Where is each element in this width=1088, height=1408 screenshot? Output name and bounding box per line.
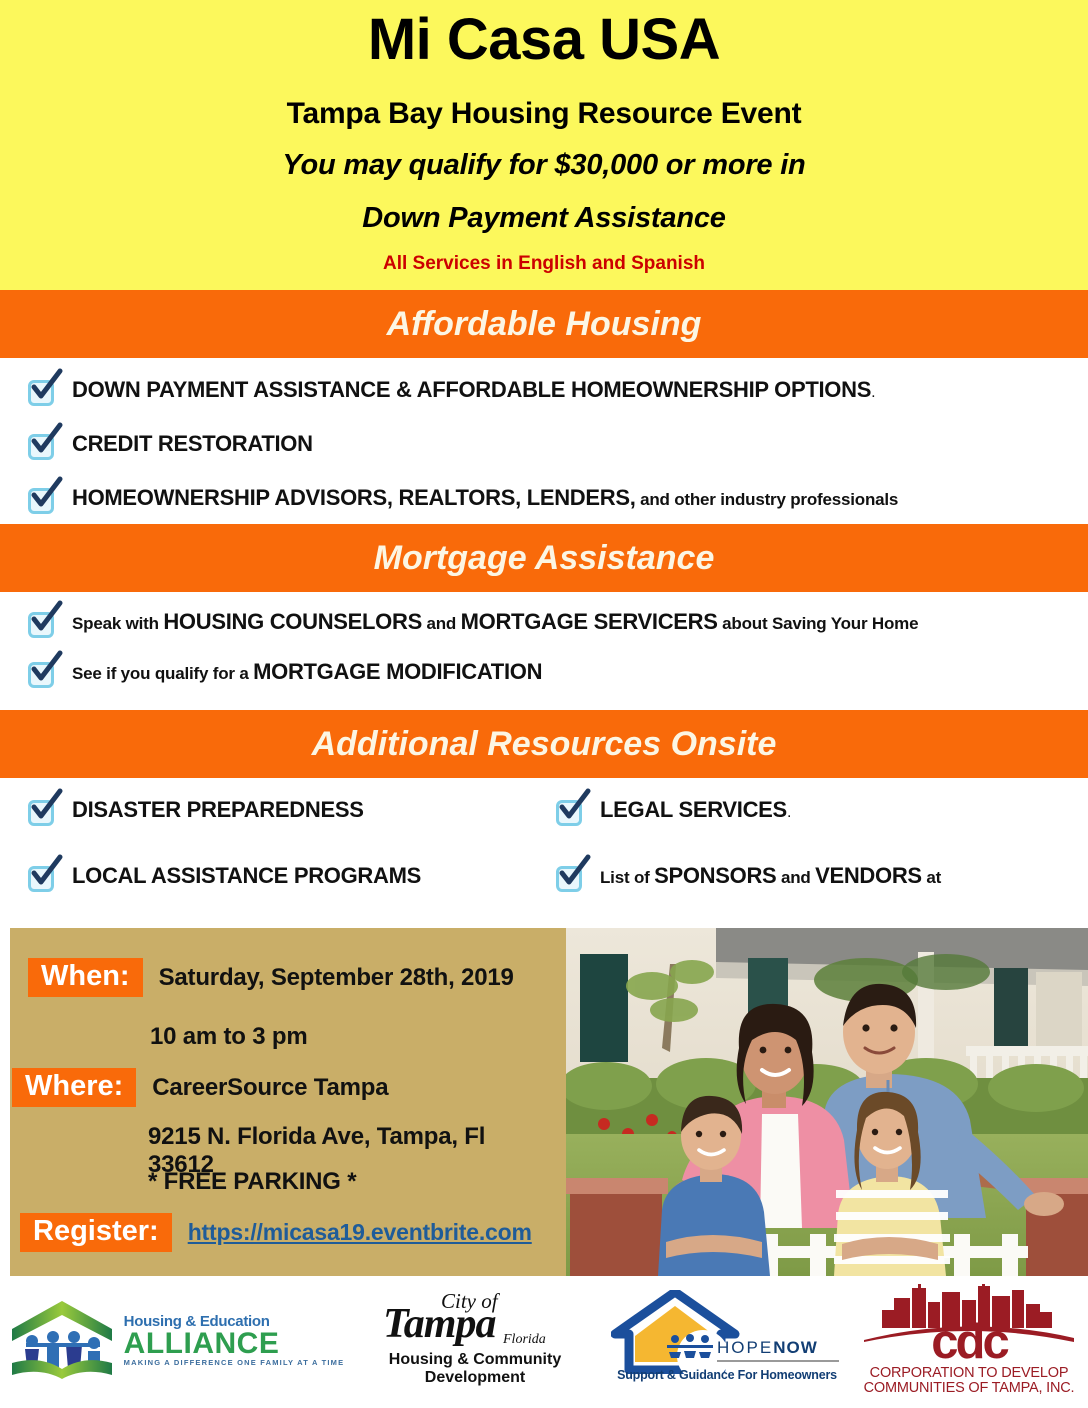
list-item-label: LOCAL ASSISTANCE PROGRAMS — [72, 860, 421, 887]
tampa-dept-line2: Development — [389, 1369, 561, 1387]
parking-value: * FREE PARKING * — [148, 1168, 356, 1196]
checkbox-checked-icon — [28, 862, 58, 892]
section-body-additional-resources: DISASTER PREPAREDNESS LOCAL ASSISTANCE P… — [0, 778, 1088, 892]
when-label: When: — [28, 958, 143, 997]
checkbox-checked-icon — [28, 430, 58, 460]
flyer-page: Mi Casa USA Tampa Bay Housing Resource E… — [0, 0, 1088, 1408]
time-value: 10 am to 3 pm — [150, 1023, 307, 1051]
list-item: DOWN PAYMENT ASSISTANCE & AFFORDABLE HOM… — [0, 374, 1088, 406]
alliance-line2: ALLIANCE — [124, 1329, 345, 1359]
section-body-affordable-housing: DOWN PAYMENT ASSISTANCE & AFFORDABLE HOM… — [0, 358, 1088, 524]
list-item: CREDIT RESTORATION — [0, 428, 1088, 460]
list-item-label: See if you qualify for a MORTGAGE MODIFI… — [72, 656, 542, 683]
list-item-label: CREDIT RESTORATION — [72, 428, 313, 455]
list-item: DISASTER PREPAREDNESS — [0, 794, 544, 826]
list-item: LEGAL SERVICES. — [544, 794, 1088, 826]
hope-tagline: Support & Guidance For Homeowners — [607, 1368, 847, 1382]
list-item: See if you qualify for a MORTGAGE MODIFI… — [0, 656, 1088, 688]
where-value: CareerSource Tampa — [152, 1074, 388, 1102]
register-label: Register: — [20, 1213, 172, 1252]
list-item-label: Speak with HOUSING COUNSELORS and MORTGA… — [72, 606, 918, 633]
languages-note: All Services in English and Spanish — [0, 235, 1088, 275]
event-register-row: Register: https://micasa19.eventbrite.co… — [20, 1213, 532, 1252]
hope-people-icon — [667, 1334, 713, 1363]
section-heading: Mortgage Assistance — [374, 539, 715, 578]
hope-now-wordmark: HOPENOW — [717, 1338, 818, 1358]
checkbox-checked-icon — [28, 608, 58, 638]
event-when-row: When: Saturday, September 28th, 2019 — [28, 958, 514, 997]
logo-cdc-tampa: cdc CORPORATION TO DEVELOP COMMUNITIES O… — [850, 1285, 1088, 1395]
logo-city-of-tampa: City of Tampa Florida Housing & Communit… — [350, 1285, 600, 1395]
cdc-line1: CORPORATION TO DEVELOP — [854, 1366, 1084, 1381]
family-photo — [566, 928, 1088, 1276]
checkbox-checked-icon — [556, 862, 586, 892]
event-subtitle: Tampa Bay Housing Resource Event — [0, 71, 1088, 131]
checkbox-checked-icon — [28, 376, 58, 406]
event-parking-row: * FREE PARKING * — [148, 1168, 356, 1196]
tampa-name-text: Tampa — [383, 1303, 495, 1345]
header-banner: Mi Casa USA Tampa Bay Housing Resource E… — [0, 0, 1088, 290]
register-link[interactable]: https://micasa19.eventbrite.com — [188, 1219, 532, 1246]
event-where-row: Where: CareerSource Tampa — [12, 1068, 388, 1107]
list-item-label: List of SPONSORS and VENDORS at — [600, 860, 941, 887]
list-item-label: LEGAL SERVICES. — [600, 794, 791, 822]
list-item: LOCAL ASSISTANCE PROGRAMS — [0, 860, 544, 892]
logo-housing-education-alliance: Housing & Education ALLIANCE MAKING A DI… — [0, 1285, 350, 1395]
list-item-label: HOMEOWNERSHIP ADVISORS, REALTORS, LENDER… — [72, 482, 898, 509]
when-value: Saturday, September 28th, 2019 — [159, 964, 514, 992]
qualify-line-2: Down Payment Assistance — [0, 182, 1088, 235]
resources-column-left: DISASTER PREPAREDNESS LOCAL ASSISTANCE P… — [0, 794, 544, 892]
event-details-band: When: Saturday, September 28th, 2019 10 … — [0, 928, 1088, 1276]
section-bar-affordable-housing: Affordable Housing — [0, 290, 1088, 358]
list-item: HOMEOWNERSHIP ADVISORS, REALTORS, LENDER… — [0, 482, 1088, 514]
where-label: Where: — [12, 1068, 136, 1107]
hope-divider — [717, 1360, 839, 1362]
checkbox-checked-icon — [28, 796, 58, 826]
list-item-label: DOWN PAYMENT ASSISTANCE & AFFORDABLE HOM… — [72, 374, 875, 402]
list-item: List of SPONSORS and VENDORS at — [544, 860, 1088, 892]
qualify-line-1: You may qualify for $30,000 or more in — [0, 131, 1088, 182]
section-body-mortgage-assistance: Speak with HOUSING COUNSELORS and MORTGA… — [0, 592, 1088, 696]
cdc-wordmark: cdc — [854, 1318, 1084, 1367]
checkbox-checked-icon — [28, 484, 58, 514]
list-item-label: DISASTER PREPAREDNESS — [72, 794, 364, 821]
section-heading: Affordable Housing — [387, 305, 702, 344]
alliance-tagline: MAKING A DIFFERENCE ONE FAMILY AT A TIME — [124, 1359, 345, 1367]
list-item: Speak with HOUSING COUNSELORS and MORTGA… — [0, 606, 1088, 638]
cdc-line2: COMMUNITIES OF TAMPA, INC. — [854, 1381, 1084, 1396]
alliance-house-book-icon — [6, 1295, 118, 1386]
sponsor-logo-row: Housing & Education ALLIANCE MAKING A DI… — [0, 1276, 1088, 1404]
tampa-script-mark: City of Tampa Florida — [375, 1293, 575, 1349]
section-bar-additional-resources: Additional Resources Onsite — [0, 710, 1088, 778]
page-title: Mi Casa USA — [0, 6, 1088, 71]
tampa-state-text: Florida — [503, 1333, 546, 1347]
event-time-row: 10 am to 3 pm — [150, 1023, 307, 1051]
checkbox-checked-icon — [28, 658, 58, 688]
section-heading: Additional Resources Onsite — [312, 725, 777, 764]
logo-hope-now: HOPENOW Support & Guidance For Homeowner… — [600, 1285, 850, 1395]
checkbox-checked-icon — [556, 796, 586, 826]
resources-column-right: LEGAL SERVICES. List of SPONSORS and VEN… — [544, 794, 1088, 892]
event-details-text: When: Saturday, September 28th, 2019 10 … — [0, 928, 556, 1276]
tampa-department: Housing & Community Development — [389, 1351, 561, 1387]
section-bar-mortgage-assistance: Mortgage Assistance — [0, 524, 1088, 592]
tampa-dept-line1: Housing & Community — [389, 1351, 561, 1369]
